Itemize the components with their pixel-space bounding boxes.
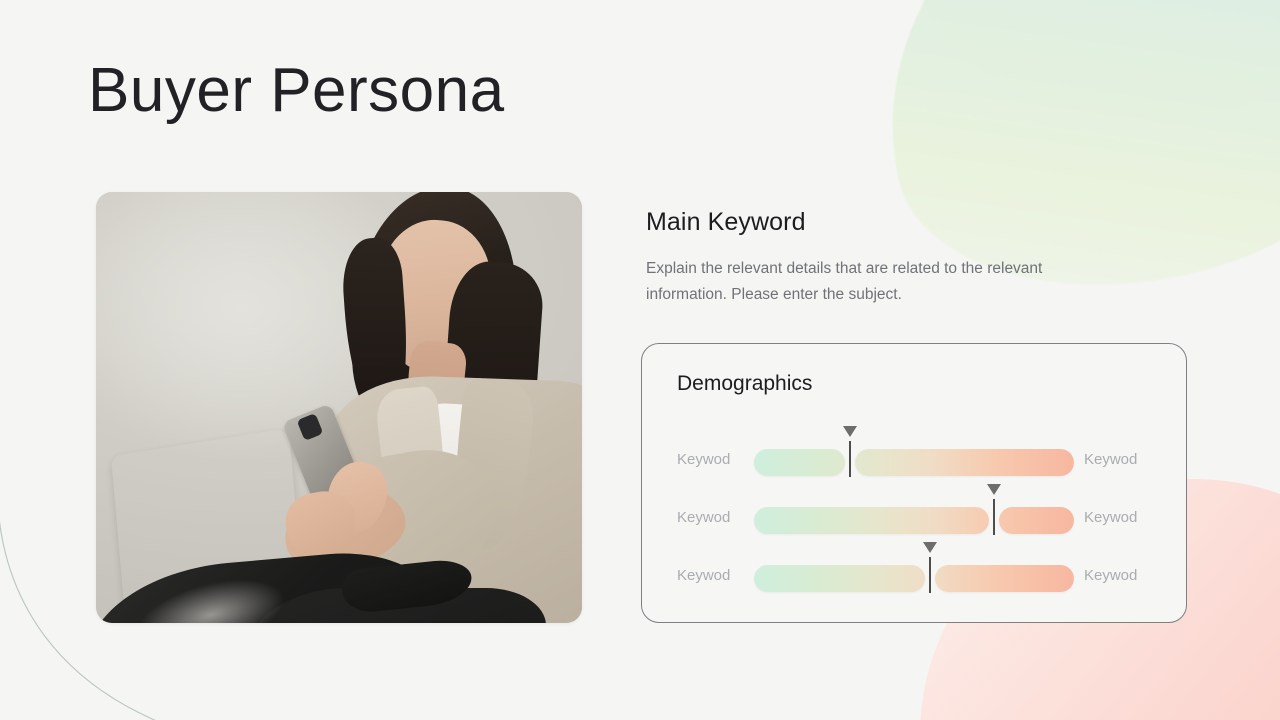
demographics-marker-icon[interactable] — [843, 426, 857, 437]
demographics-row-label-right: Keywod — [1074, 567, 1186, 584]
slide-canvas: Buyer Persona Main Keyword Explain the r… — [0, 0, 1280, 720]
demographics-slider-track[interactable] — [754, 558, 1074, 592]
demographics-slider-list: KeywodKeywodKeywodKeywodKeywodKeywod — [642, 430, 1186, 604]
demographics-card: Demographics KeywodKeywodKeywodKeywodKey… — [641, 343, 1187, 623]
decorative-blob-top-right-secondary — [899, 0, 1280, 148]
demographics-slider-track[interactable] — [754, 500, 1074, 534]
demographics-slider-segment-right — [935, 565, 1074, 592]
demographics-row-label-left: Keywod — [642, 567, 754, 584]
demographics-marker-line — [929, 557, 931, 593]
demographics-marker-line — [993, 499, 995, 535]
demographics-slider-segment-left — [754, 507, 989, 534]
demographics-marker-line — [849, 441, 851, 477]
demographics-row-label-left: Keywod — [642, 509, 754, 526]
demographics-title: Demographics — [677, 372, 812, 396]
demographics-row: KeywodKeywod — [642, 546, 1186, 604]
page-title: Buyer Persona — [88, 60, 505, 122]
persona-photo — [96, 192, 582, 623]
demographics-slider-segment-left — [754, 449, 845, 476]
demographics-marker-icon[interactable] — [923, 542, 937, 553]
demographics-row: KeywodKeywod — [642, 488, 1186, 546]
demographics-row-label-right: Keywod — [1074, 509, 1186, 526]
content-heading: Main Keyword — [646, 208, 806, 237]
demographics-slider-segment-left — [754, 565, 925, 592]
demographics-slider-track[interactable] — [754, 442, 1074, 476]
demographics-row-label-left: Keywod — [642, 451, 754, 468]
demographics-slider-segment-right — [999, 507, 1074, 534]
demographics-row-label-right: Keywod — [1074, 451, 1186, 468]
content-body: Explain the relevant details that are re… — [646, 256, 1126, 307]
demographics-row: KeywodKeywod — [642, 430, 1186, 488]
demographics-slider-segment-right — [855, 449, 1074, 476]
demographics-marker-icon[interactable] — [987, 484, 1001, 495]
